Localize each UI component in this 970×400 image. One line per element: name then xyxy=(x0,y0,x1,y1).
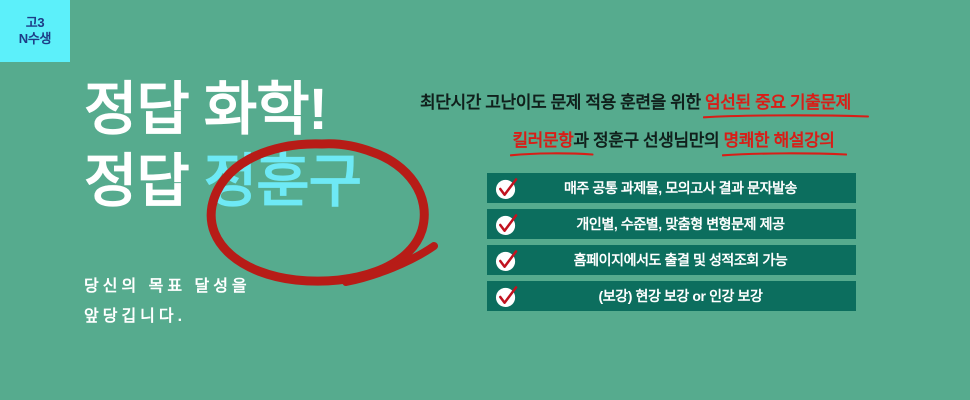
instructor-name: 정훈구 xyxy=(204,149,361,214)
description-row-1-highlight-text: 엄선된 중요 기출문제 xyxy=(705,93,851,112)
check-circle-icon xyxy=(495,213,518,236)
headline-line-2: 정답 정훈구 xyxy=(84,146,464,218)
description-row-2: 킬러문항과 정훈구 선생님만의 명쾌한 해설강의 xyxy=(410,122,955,160)
headline-line-1: 정답 화학! xyxy=(84,74,464,146)
underline-stroke-icon xyxy=(703,114,870,119)
sub-copy-block: 당신의 목표 달성을 앞당깁니다. xyxy=(84,272,251,332)
badge-line-2: N수생 xyxy=(19,31,51,47)
feature-item: 홈페이지에서도 출결 및 성적조회 가능 xyxy=(487,245,856,275)
feature-item: (보강) 현강 보강 or 인강 보강 xyxy=(487,281,856,311)
underline-stroke-icon xyxy=(722,152,847,157)
sub-copy-line-1: 당신의 목표 달성을 xyxy=(84,272,251,302)
check-circle-icon xyxy=(495,177,518,200)
badge-line-1: 고3 xyxy=(26,15,45,31)
promo-banner: 고3 N수생 정답 화학! 정답 정훈구 당신의 목표 달성을 앞당깁니다. 최… xyxy=(0,0,970,400)
description-row-1-plain: 최단시간 고난이도 문제 적용 훈련을 위한 xyxy=(420,93,705,112)
check-circle-icon xyxy=(495,285,518,308)
description-row-2-highlight-2-text: 명쾌한 해설강의 xyxy=(724,131,835,150)
underline-stroke-icon xyxy=(510,152,593,157)
feature-item: 매주 공통 과제물, 모의고사 결과 문자발송 xyxy=(487,173,856,203)
feature-list: 매주 공통 과제물, 모의고사 결과 문자발송 개인별, 수준별, 맞춤형 변형… xyxy=(487,173,856,317)
description-block: 최단시간 고난이도 문제 적용 훈련을 위한 엄선된 중요 기출문제 킬러문항과… xyxy=(410,84,955,160)
description-row-2-highlight-2: 명쾌한 해설강의 xyxy=(724,131,835,150)
feature-label: 홈페이지에서도 출결 및 성적조회 가능 xyxy=(487,250,856,270)
feature-label: 개인별, 수준별, 맞춤형 변형문제 제공 xyxy=(487,214,856,234)
check-circle-icon xyxy=(495,249,518,272)
description-row-2-highlight-1: 킬러문항 xyxy=(512,131,573,150)
target-audience-badge: 고3 N수생 xyxy=(0,0,70,62)
headline-line-2-prefix: 정답 xyxy=(84,149,204,214)
feature-label: 매주 공통 과제물, 모의고사 결과 문자발송 xyxy=(487,178,856,198)
description-row-2-highlight-1-text: 킬러문항 xyxy=(512,131,573,150)
feature-item: 개인별, 수준별, 맞춤형 변형문제 제공 xyxy=(487,209,856,239)
description-row-2-plain: 과 정훈구 선생님만의 xyxy=(573,131,723,150)
description-row-1-highlight: 엄선된 중요 기출문제 xyxy=(705,93,851,112)
description-row-1: 최단시간 고난이도 문제 적용 훈련을 위한 엄선된 중요 기출문제 xyxy=(410,84,955,122)
feature-label: (보강) 현강 보강 or 인강 보강 xyxy=(487,286,856,306)
sub-copy-line-2: 앞당깁니다. xyxy=(84,302,251,332)
headline-block: 정답 화학! 정답 정훈구 xyxy=(84,74,464,218)
